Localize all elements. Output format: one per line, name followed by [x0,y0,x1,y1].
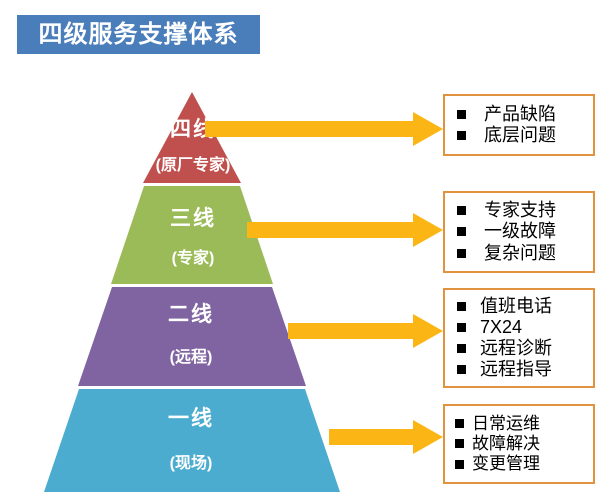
callout-item-label: 底层问题 [484,125,556,146]
callout-item-label: 变更管理 [472,454,540,474]
callout-item: 一级故障 [457,221,593,242]
callout-item: 变更管理 [455,454,593,474]
callout-item-label: 日常运维 [472,414,540,434]
callout-item: 底层问题 [457,125,593,146]
callout-box-tier-4: 产品缺陷 底层问题 [443,94,595,156]
pyramid-tier-1-role: (现场) [136,455,246,473]
pyramid-tier-1-shape [44,389,340,492]
bullet-icon [457,249,466,258]
pyramid-tier-3-role-text: (专家) [172,250,215,267]
callout-item-label: 远程诊断 [480,338,552,359]
bullet-icon [457,206,466,215]
callout-item-label: 专家支持 [484,200,556,221]
page-title: 四级服务支撑体系 [39,23,239,47]
callout-item: 产品缺陷 [457,104,593,125]
callout-item: 远程指导 [457,359,593,380]
pyramid-tier-4-role-text: (原厂专家) [156,157,231,174]
pyramid-tier-2-label: 二线 [136,303,246,326]
pyramid-tier-3-name: 三线 [170,207,216,230]
arrow-to-callout-2 [288,314,443,348]
pyramid-tier-3-shape [111,186,273,284]
callout-item-label: 一级故障 [484,221,556,242]
pyramid-tier-2-role-text: (远程) [170,349,213,366]
callout-item: 远程诊断 [457,338,593,359]
title-banner: 四级服务支撑体系 [17,15,260,54]
pyramid-tier-3-role: (专家) [138,250,248,268]
pyramid-tier-2-shape [78,287,306,386]
callout-item-label: 7X24 [480,317,522,338]
callout-item-label: 故障解决 [472,434,540,454]
callout-item: 日常运维 [455,414,593,434]
callout-box-tier-1: 日常运维 故障解决 变更管理 [443,404,595,484]
bullet-icon [457,323,466,332]
bullet-icon [457,344,466,353]
callout-item: 复杂问题 [457,243,593,264]
bullet-icon [457,110,466,119]
diagram-canvas: 四级服务支撑体系 四线 (原厂专家) 三线 (专家) 二线 (远程) 一线 (现… [0,0,612,500]
pyramid-tier-2-name: 二线 [168,303,214,326]
pyramid-tier-1-name: 一线 [168,407,214,430]
bullet-icon [457,131,466,140]
pyramid-tier-4-name: 四线 [170,118,216,141]
pyramid-tier-3-label: 三线 [138,207,248,230]
bullet-icon [455,460,464,469]
callout-item: 值班电话 [457,296,593,317]
pyramid-tier-1-label: 一线 [136,407,246,430]
callout-item: 7X24 [457,317,593,338]
bullet-icon [457,302,466,311]
callout-box-tier-2: 值班电话 7X24 远程诊断 远程指导 [443,288,595,388]
callout-item-label: 复杂问题 [484,243,556,264]
callout-item-label: 远程指导 [480,359,552,380]
pyramid-tier-2-role: (远程) [136,349,246,367]
pyramid-tier-1-role-text: (现场) [170,455,213,472]
bullet-icon [455,419,464,428]
arrow-to-callout-1 [329,420,443,454]
callout-box-tier-3: 专家支持 一级故障 复杂问题 [443,191,595,273]
bullet-icon [457,227,466,236]
bullet-icon [457,365,466,374]
callout-item: 故障解决 [455,434,593,454]
callout-item-label: 值班电话 [480,296,552,317]
bullet-icon [455,439,464,448]
callout-item-label: 产品缺陷 [484,104,556,125]
callout-item: 专家支持 [457,200,593,221]
pyramid-tier-4-role: (原厂专家) [131,157,255,175]
arrow-to-callout-3 [247,213,443,247]
pyramid-tier-4-label: 四线 [141,118,245,141]
